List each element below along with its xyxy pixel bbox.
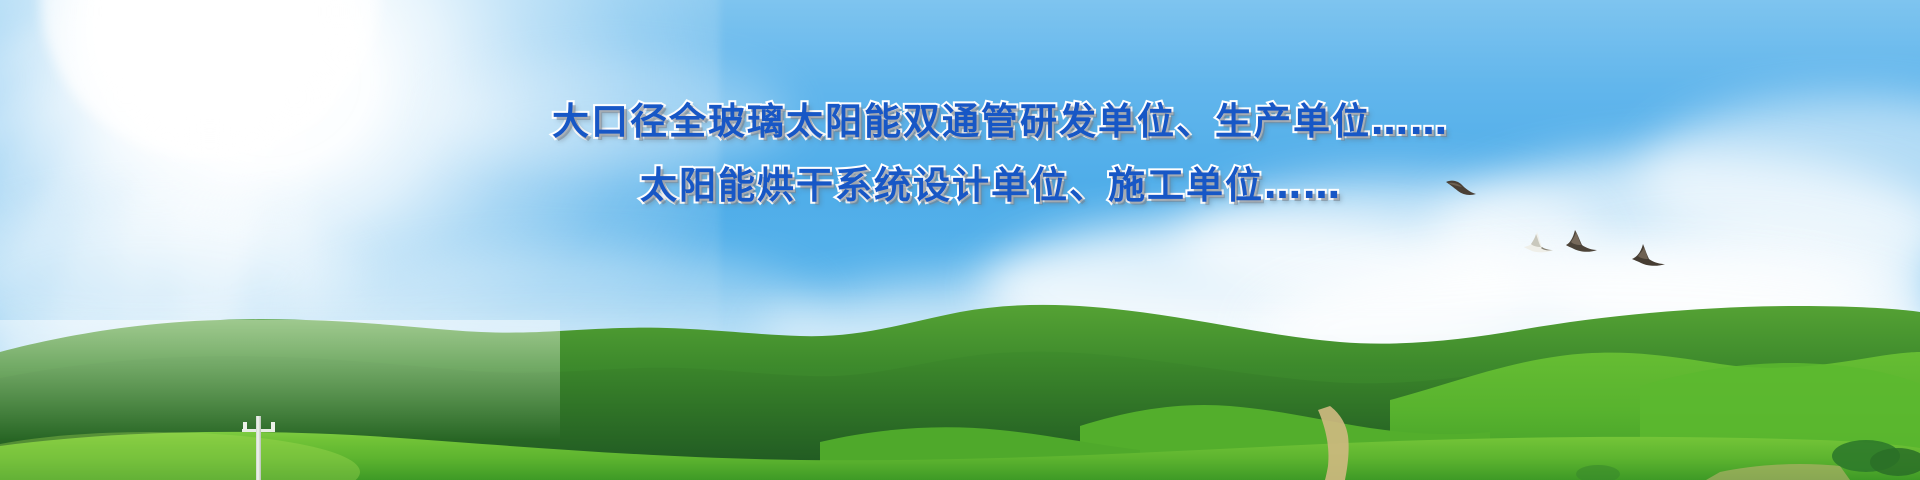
landscape xyxy=(0,260,1920,480)
cloud xyxy=(430,60,790,170)
utility-pole-insulator xyxy=(243,422,247,430)
bird-icon xyxy=(1444,178,1478,198)
utility-pole-insulator xyxy=(271,422,275,430)
bird-icon xyxy=(1524,232,1554,254)
hero-banner: 大口径全玻璃太阳能双通管研发单位、生产单位…… 太阳能烘干系统设计单位、施工单位… xyxy=(0,0,1920,480)
bird-icon xyxy=(1566,230,1598,254)
utility-pole xyxy=(256,416,261,480)
